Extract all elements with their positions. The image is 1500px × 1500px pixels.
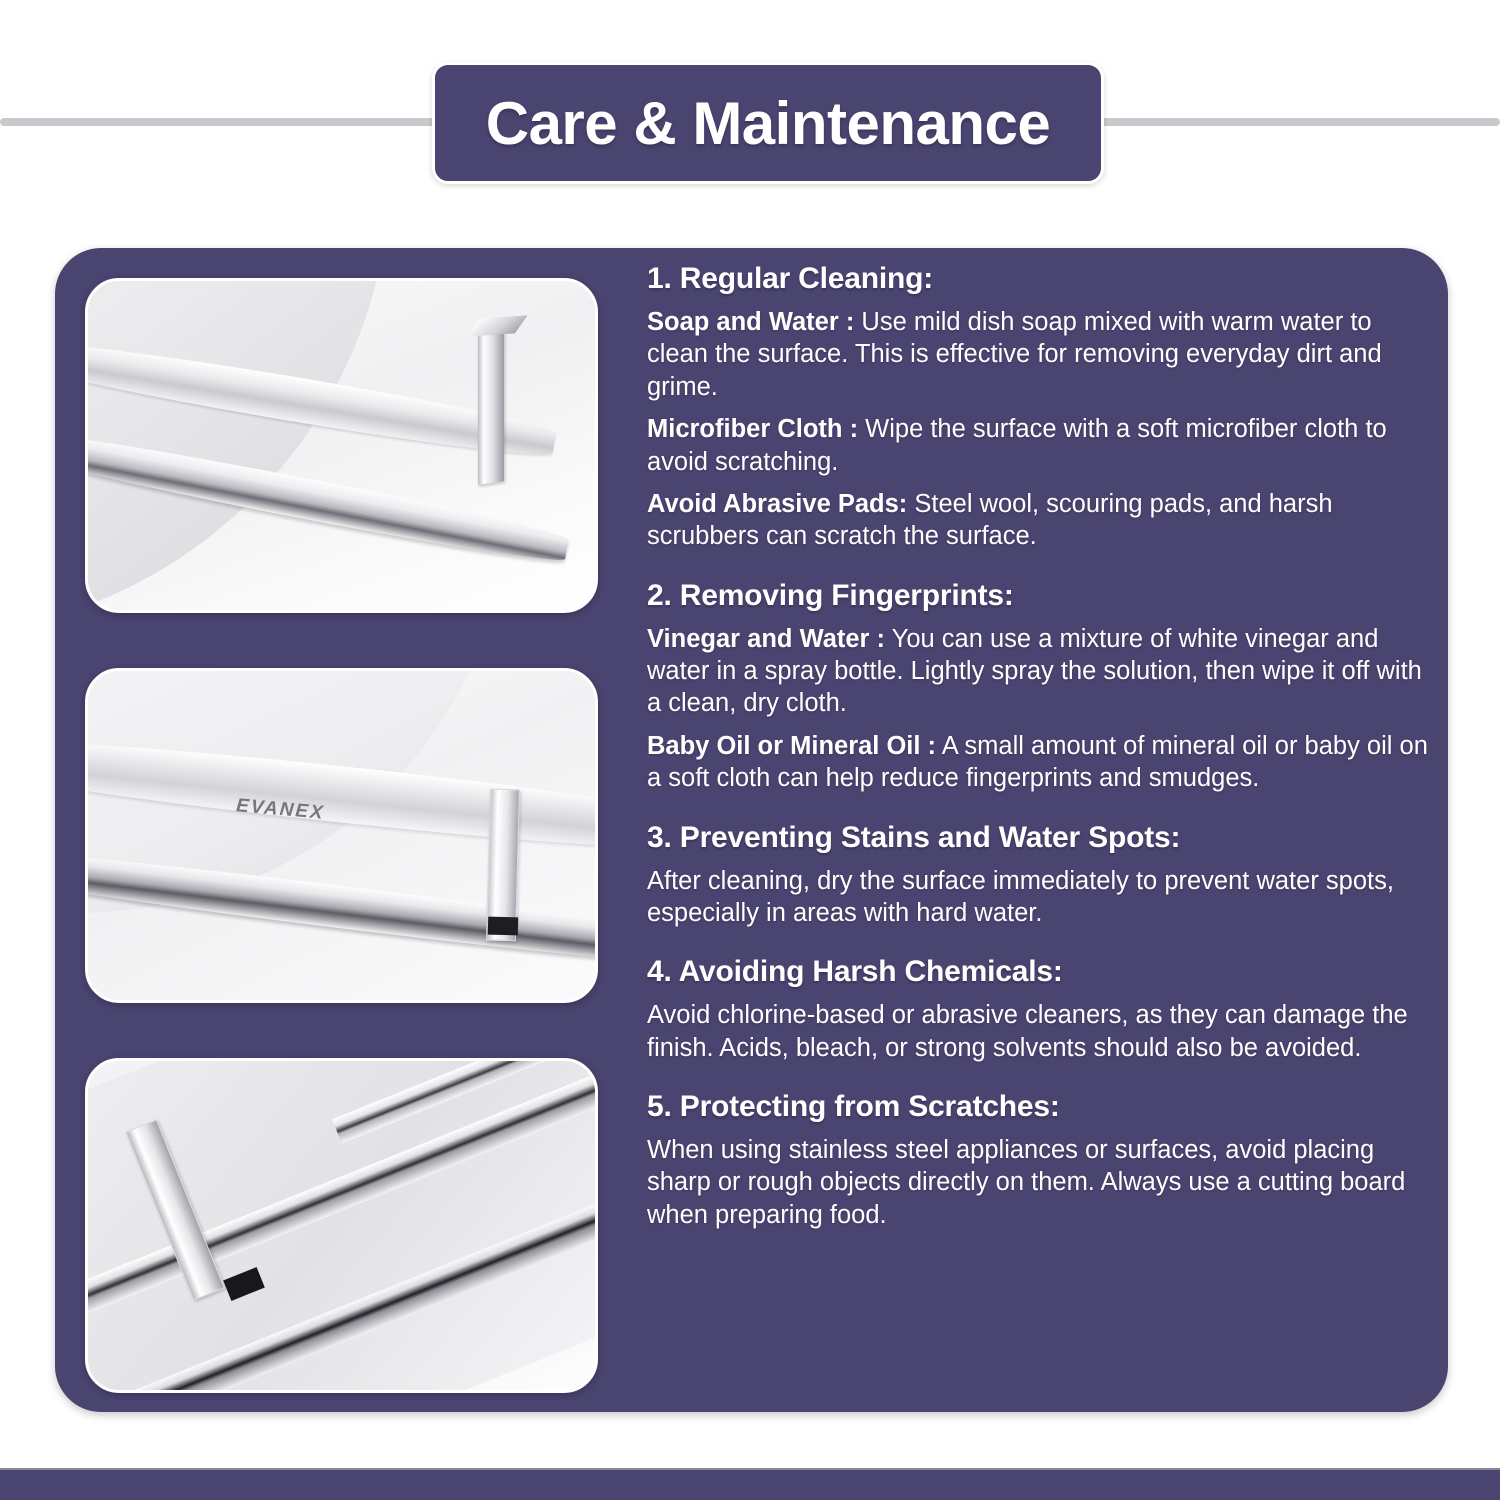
care-section-heading: 1. Regular Cleaning: <box>647 262 1431 296</box>
care-section: 5. Protecting from Scratches:When using … <box>647 1090 1431 1231</box>
care-section: 2. Removing Fingerprints:Vinegar and Wat… <box>647 579 1431 795</box>
care-section-paragraph: Baby Oil or Mineral Oil : A small amount… <box>647 730 1431 795</box>
care-section-heading: 5. Protecting from Scratches: <box>647 1090 1431 1124</box>
care-section-paragraph: Avoid chlorine-based or abrasive cleaner… <box>647 999 1431 1064</box>
photo2-post-foot <box>488 917 518 936</box>
photo1-support-post <box>478 321 504 485</box>
care-section-heading: 3. Preventing Stains and Water Spots: <box>647 821 1431 855</box>
care-section-paragraph: After cleaning, dry the surface immediat… <box>647 865 1431 930</box>
product-image-card-2: EVANEX <box>85 668 598 1003</box>
care-section: 1. Regular Cleaning:Soap and Water : Use… <box>647 262 1431 553</box>
care-paragraph-lead: Soap and Water : <box>647 308 854 336</box>
care-section-paragraph: When using stainless steel appliances or… <box>647 1134 1431 1231</box>
care-paragraph-body: After cleaning, dry the surface immediat… <box>647 867 1394 927</box>
product-photo-1 <box>88 281 595 610</box>
care-section-heading: 4. Avoiding Harsh Chemicals: <box>647 955 1431 989</box>
care-section-heading: 2. Removing Fingerprints: <box>647 579 1431 613</box>
care-paragraph-lead: Microfiber Cloth : <box>647 415 858 443</box>
care-section-paragraph: Soap and Water : Use mild dish soap mixe… <box>647 306 1431 403</box>
footer-strip <box>0 1468 1500 1500</box>
product-photo-3 <box>88 1061 595 1390</box>
product-image-gallery: EVANEX <box>85 278 598 1382</box>
care-section-paragraph: Avoid Abrasive Pads: Steel wool, scourin… <box>647 488 1431 553</box>
care-paragraph-lead: Avoid Abrasive Pads: <box>647 490 907 518</box>
care-section-paragraph: Microfiber Cloth : Wipe the surface with… <box>647 413 1431 478</box>
page-title-chip: Care & Maintenance <box>432 62 1104 184</box>
product-photo-2: EVANEX <box>88 671 595 1000</box>
care-paragraph-lead: Vinegar and Water : <box>647 625 885 653</box>
care-section-paragraph: Vinegar and Water : You can use a mixtur… <box>647 623 1431 720</box>
product-image-card-3 <box>85 1058 598 1393</box>
care-section: 4. Avoiding Harsh Chemicals:Avoid chlori… <box>647 955 1431 1064</box>
care-paragraph-body: Avoid chlorine-based or abrasive cleaner… <box>647 1001 1408 1061</box>
infographic-page: Care & Maintenance <box>0 0 1500 1500</box>
content-panel: EVANEX 1. Regular Cleaning:Soap and Wate… <box>55 248 1448 1412</box>
care-instructions-list: 1. Regular Cleaning:Soap and Water : Use… <box>647 262 1431 1231</box>
care-paragraph-lead: Baby Oil or Mineral Oil : <box>647 732 936 760</box>
care-section: 3. Preventing Stains and Water Spots:Aft… <box>647 821 1431 930</box>
care-paragraph-body: When using stainless steel appliances or… <box>647 1136 1405 1229</box>
page-title: Care & Maintenance <box>486 89 1051 158</box>
product-image-card-1 <box>85 278 598 613</box>
